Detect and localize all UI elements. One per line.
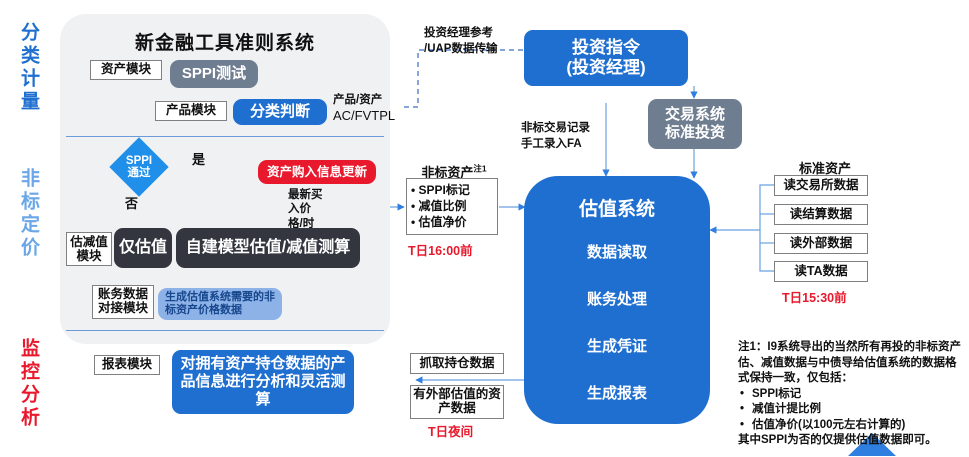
- only-valuation-box[interactable]: 仅估值: [114, 228, 172, 268]
- trade-system-line2: 标准投资: [665, 124, 725, 142]
- module-tag-impairment: 估减值模块: [66, 232, 112, 266]
- phase-label-nonstandard-pricing: 非标定价: [8, 168, 38, 260]
- valuation-function: 生成凭证: [587, 335, 647, 356]
- valuation-function: 数据读取: [587, 241, 647, 262]
- standard-asset-item-ta[interactable]: 读TA数据: [774, 261, 868, 282]
- investment-instruction-box[interactable]: 投资指令 (投资经理): [524, 30, 688, 86]
- panel-divider-1: [66, 136, 384, 137]
- report-analysis-box[interactable]: 对拥有资产持仓数据的产品信息进行分析和灵活测算: [172, 350, 354, 414]
- module-tag-accounting: 账务数据对接模块: [92, 285, 154, 319]
- sppi-test-box[interactable]: SPPI测试: [170, 60, 258, 88]
- list-item: • 减值比例: [411, 198, 491, 214]
- classification-note-line1: 产品/资产: [333, 93, 403, 107]
- footnote-block: 注1：I9系统导出的当然所有再投的非标资产估、减值数据与中债导给估值系统的数据格…: [738, 340, 966, 449]
- instruction-line1: 投资指令: [572, 38, 640, 58]
- module-tag-asset: 资产模块: [90, 60, 162, 80]
- decision-yes-label: 是: [192, 152, 205, 168]
- trade-system-box[interactable]: 交易系统 标准投资: [648, 99, 742, 149]
- panel-title: 新金融工具准则系统: [70, 28, 380, 55]
- phase-label-classification: 分类计量: [8, 22, 38, 114]
- footnote-body: 注1：I9系统导出的当然所有再投的非标资产估、减值数据与中债导给估值系统的数据格…: [738, 340, 966, 387]
- valuation-system-box[interactable]: 估值系统 数据读取 账务处理 生成凭证 生成报表: [524, 176, 710, 424]
- diagram-canvas: 分类计量 非标定价 监控分析 新金融工具准则系统 资产模块 产品模块 估减值模块…: [0, 0, 969, 457]
- classification-box[interactable]: 分类判断: [233, 99, 327, 125]
- non-standard-footnote-ref: 注1: [473, 164, 486, 174]
- standard-asset-item-external[interactable]: 读外部数据: [774, 233, 868, 254]
- decision-no-label: 否: [125, 196, 138, 212]
- panel-divider-2: [66, 330, 384, 331]
- bottom-input-position-data[interactable]: 抓取持仓数据: [410, 353, 504, 374]
- instruction-line2: (投资经理): [566, 58, 645, 78]
- diamond-line1: SPPI: [126, 155, 152, 167]
- asset-purchase-update-box[interactable]: 资产购入信息更新: [258, 160, 376, 184]
- list-item: • SPPI标记: [411, 182, 491, 198]
- module-tag-product: 产品模块: [155, 101, 227, 121]
- valuation-system-title: 估值系统: [579, 194, 655, 221]
- diamond-line2: 通过: [128, 167, 151, 179]
- standard-asset-item-exchange[interactable]: 读交易所数据: [774, 175, 868, 196]
- manual-entry-line2: 手工录入FA: [521, 137, 582, 151]
- phase-label-monitoring: 监控分析: [8, 338, 38, 430]
- module-tag-report: 报表模块: [94, 355, 160, 375]
- valuation-function: 生成报表: [587, 382, 647, 403]
- footnote-item: SPPI标记: [738, 387, 966, 403]
- list-item: • 估值净价: [411, 214, 491, 230]
- classification-note-line2: AC/FVTPL: [333, 108, 407, 124]
- trade-system-line1: 交易系统: [665, 106, 725, 124]
- manual-entry-line1: 非标交易记录: [521, 121, 590, 135]
- non-standard-items: • SPPI标记 • 减值比例 • 估值净价: [406, 178, 498, 235]
- dashed-label-line2: /UAP数据传输: [424, 42, 497, 56]
- valuation-function: 账务处理: [587, 288, 647, 309]
- standard-assets-deadline: T日15:30前: [782, 287, 847, 306]
- footnote-item: 减值计提比例: [738, 402, 966, 418]
- standard-asset-item-settlement[interactable]: 读结算数据: [774, 204, 868, 225]
- footnote-tail: 其中SPPI为否的仅提供估值数据即可。: [738, 433, 966, 449]
- footnote-item: 估值净价(以100元左右计算的): [738, 418, 966, 434]
- non-standard-deadline: T日16:00前: [408, 240, 473, 259]
- bottom-inputs-deadline: T日夜间: [428, 421, 473, 440]
- self-model-valuation-box[interactable]: 自建模型估值/减值测算: [176, 228, 360, 268]
- bottom-input-external-valuation[interactable]: 有外部估值的资产数据: [410, 385, 504, 419]
- dashed-label-line1: 投资经理参考: [424, 26, 493, 40]
- price-data-callout: 生成估值系统需要的非标资产价格数据: [158, 288, 282, 320]
